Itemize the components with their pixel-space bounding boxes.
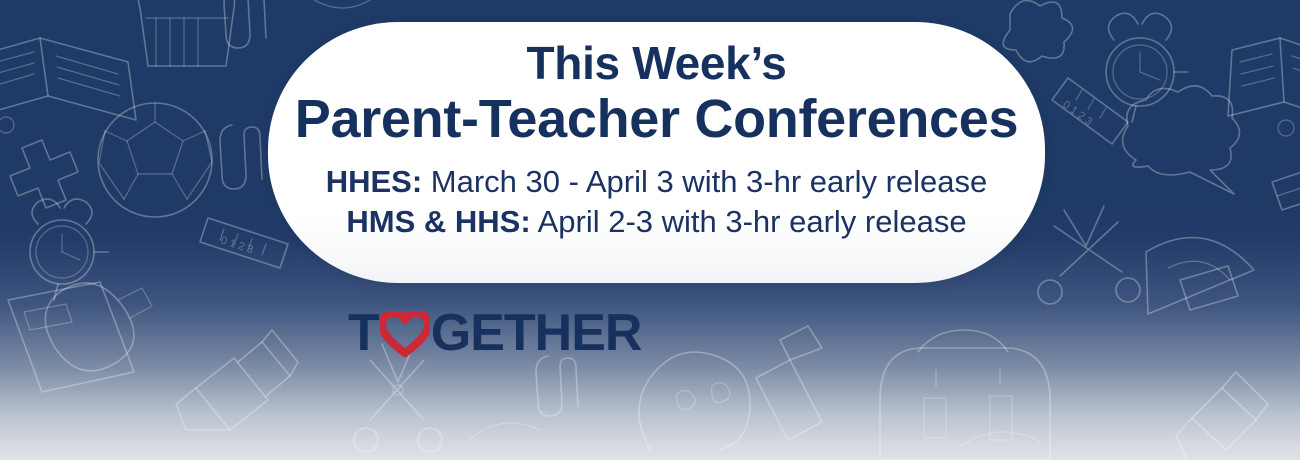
logo-text-part2: GETHER xyxy=(431,307,642,359)
alarm-clock-icon xyxy=(30,199,108,300)
announcement-card: This Week’s Parent-Teacher Conferences H… xyxy=(268,22,1045,283)
eraser-icon xyxy=(1272,166,1300,210)
svg-text:0 1 2 3: 0 1 2 3 xyxy=(1060,99,1094,128)
book-icon xyxy=(1228,38,1300,136)
ruler-icon: 0 1 2 3 xyxy=(200,218,288,268)
paint-tube-icon xyxy=(45,283,152,371)
paper-sheet-icon xyxy=(8,282,134,392)
backpack-icon xyxy=(880,330,1050,460)
plus-icon xyxy=(10,140,78,208)
logo-text-part1: T xyxy=(348,307,379,359)
headline-line-1: This Week’s xyxy=(526,40,786,86)
plus-icon xyxy=(1003,1,1072,62)
map-blob-icon xyxy=(639,352,750,450)
protractor-icon xyxy=(1146,238,1254,314)
detail-label-hhes: HHES: xyxy=(326,164,422,199)
announcement-banner: 0 1 2 3 xyxy=(0,0,1300,460)
paperclip-icon xyxy=(224,0,266,48)
together-logo: T GETHER xyxy=(348,306,641,360)
sticky-note-icon xyxy=(1180,266,1238,310)
detail-text-hms-hhs: April 2-3 with 3-hr early release xyxy=(531,204,967,239)
alarm-clock-icon xyxy=(1106,13,1188,122)
detail-text-hhes: March 30 - April 3 with 3-hr early relea… xyxy=(422,164,987,199)
svg-text:0 1 2 3: 0 1 2 3 xyxy=(219,234,255,256)
pencil-icon xyxy=(176,330,298,430)
pencil-icon xyxy=(1176,372,1268,458)
paperclip-icon xyxy=(536,356,578,416)
paperclip-icon xyxy=(220,125,262,189)
book-icon xyxy=(0,38,136,133)
detail-line-hms-hhs: HMS & HHS: April 2-3 with 3-hr early rel… xyxy=(346,202,966,242)
ruler-icon: 0 1 2 3 xyxy=(1052,78,1128,144)
detail-line-hhes: HHES: March 30 - April 3 with 3-hr early… xyxy=(326,162,988,202)
glue-stick-icon xyxy=(756,326,822,440)
soccer-ball-icon xyxy=(98,103,212,217)
heart-icon xyxy=(380,311,430,357)
speech-bubble-icon xyxy=(1123,86,1240,194)
pencil-case-icon xyxy=(138,0,234,66)
headline-line-2: Parent-Teacher Conferences xyxy=(295,92,1018,146)
detail-label-hms-hhs: HMS & HHS: xyxy=(346,204,530,239)
scissors-icon xyxy=(1038,206,1140,304)
